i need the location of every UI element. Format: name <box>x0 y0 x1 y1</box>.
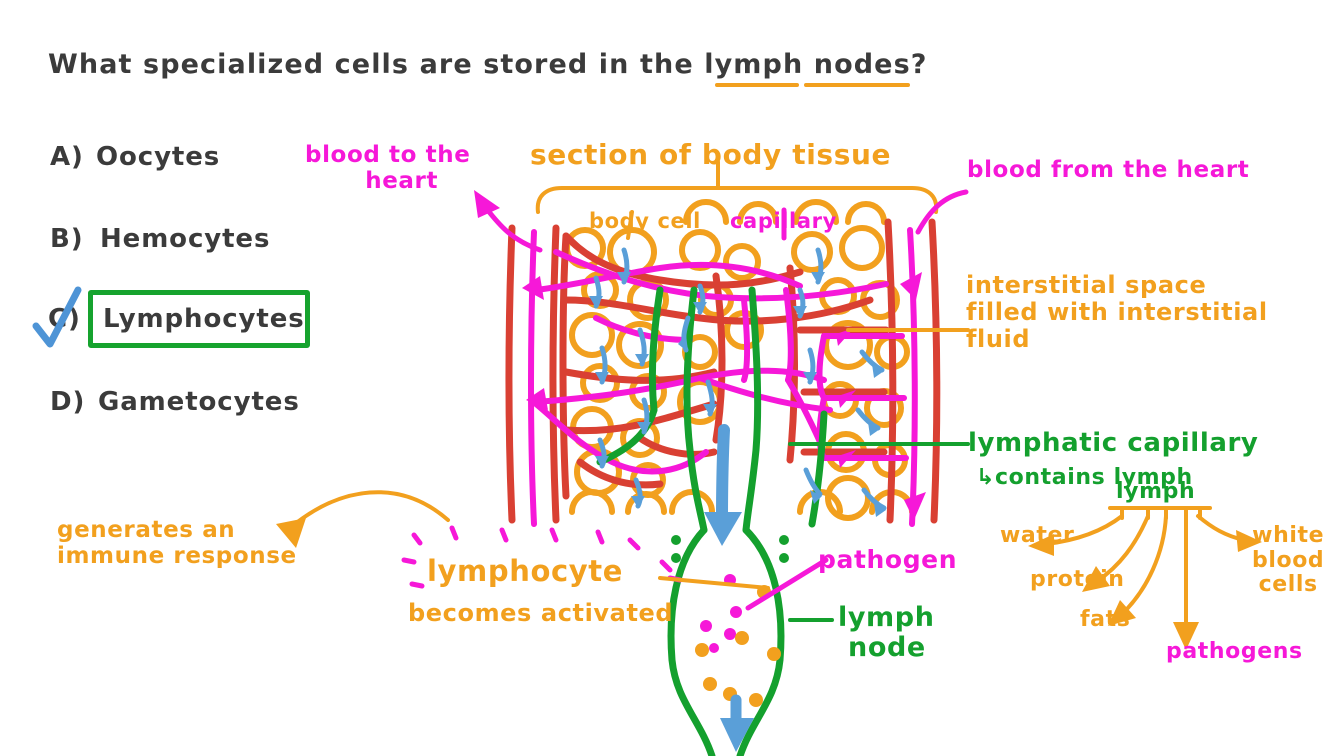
label-interstitial-space: interstitial space filled with interstit… <box>966 272 1268 353</box>
label-lymph-water: water <box>1000 524 1074 549</box>
label-capillary: capillary <box>730 210 837 234</box>
label-blood-to-heart: blood to the heart <box>305 143 470 195</box>
tissue-diagram <box>0 0 1344 756</box>
lymphocyte-dot <box>767 647 781 661</box>
label-lymph-white-blood-cells: white blood cells <box>1252 524 1324 598</box>
label-becomes-activated: becomes activated <box>408 600 673 627</box>
lymphocyte-dot <box>749 693 763 707</box>
pathogen-dot <box>730 606 742 618</box>
label-lymph-node: lymph node <box>838 603 935 663</box>
label-lymph-fats: fats <box>1080 608 1130 633</box>
label-lymph-word: lymph <box>1116 480 1195 505</box>
pathogen-dot <box>724 628 736 640</box>
pathogen-dot <box>700 620 712 632</box>
label-section-of-body-tissue: section of body tissue <box>530 139 891 170</box>
lymph-flow-arrow-out <box>720 700 754 752</box>
label-immune-response: generates an immune response <box>57 518 297 570</box>
label-blood-from-heart: blood from the heart <box>967 158 1249 184</box>
label-lymph-pathogens: pathogens <box>1166 640 1303 665</box>
lymphocyte-dot <box>695 643 709 657</box>
label-lymph-protein: protein <box>1030 568 1125 593</box>
label-lymphatic-capillary: lymphatic capillary <box>968 429 1258 458</box>
lymphocyte-dot <box>735 631 749 645</box>
worksheet-canvas: What specialized cells are stored in the… <box>0 0 1344 756</box>
lymph-flow-arrow-in <box>704 430 742 546</box>
label-lymphocyte: lymphocyte <box>427 555 623 587</box>
label-pathogen: pathogen <box>818 546 957 574</box>
node-contents <box>671 535 789 707</box>
body-cell-group <box>567 202 912 518</box>
label-body-cell: body cell <box>589 210 701 234</box>
lymphocyte-dot <box>703 677 717 691</box>
pathogen-dot <box>709 643 719 653</box>
